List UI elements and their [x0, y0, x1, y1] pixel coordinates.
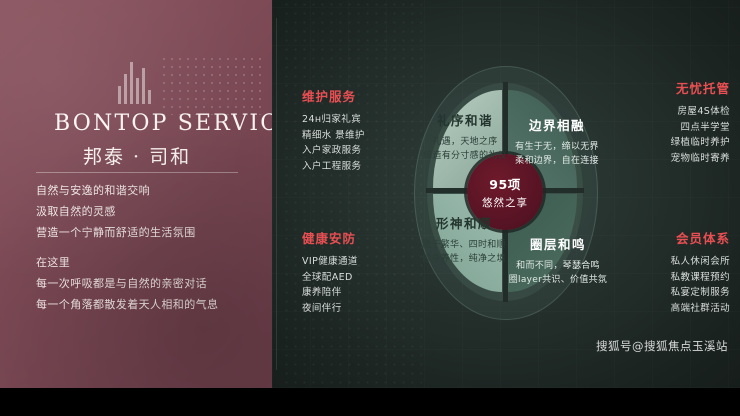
- brand-title-cn: 邦泰 · 司和: [83, 142, 191, 169]
- quadrant-label-top-right: 边界相融 有生于无，缔以无界 柔和边界，自在连接: [497, 115, 617, 168]
- group-item: 私教课程预约: [636, 270, 730, 286]
- quadrant-title: 边界相融: [497, 115, 617, 134]
- decorative-dots-pattern: [160, 55, 264, 115]
- group-item: 房屋4S体检: [636, 104, 730, 120]
- group-title: 无忧托管: [636, 78, 730, 97]
- quadrant-items: 和而不同，琴瑟合鸣 圈layer共识、价值共氛: [498, 259, 618, 287]
- slide-page: BONTOP SERVICE 邦泰 · 司和 自然与安逸的和谐交响 汲取自然的灵…: [0, 0, 740, 416]
- group-item: 四点半学堂: [636, 120, 730, 136]
- left-brand-panel: BONTOP SERVICE 邦泰 · 司和 自然与安逸的和谐交响 汲取自然的灵…: [0, 0, 272, 388]
- footer-bar: [0, 388, 740, 416]
- copy-line: 每一个角落都散发着天人相和的气息: [36, 294, 261, 315]
- copy-line: 在这里: [36, 252, 261, 273]
- group-member: 会员体系 私人休闲会所 私教课程预约 私宴定制服务 高端社群活动: [636, 228, 730, 316]
- panel-divider: [276, 18, 277, 370]
- group-items: 房屋4S体检 四点半学堂 绿植临时养护 宠物临时寄养: [636, 104, 730, 166]
- group-item: 夜间伴行: [302, 301, 422, 317]
- copy-line: 汲取自然的灵感: [36, 201, 261, 222]
- slide-body: BONTOP SERVICE 邦泰 · 司和 自然与安逸的和谐交响 汲取自然的灵…: [0, 0, 740, 388]
- decorative-bars-icon: [118, 62, 151, 104]
- copy-line: 自然与安逸的和谐交响: [36, 180, 261, 201]
- group-item: 私人休闲会所: [636, 254, 730, 270]
- quadrant-item: 和而不同，琴瑟合鸣: [498, 259, 618, 273]
- brand-divider: [36, 172, 238, 173]
- group-item: 精细水 景维护: [302, 128, 422, 144]
- quadrant-title: 形神和顺: [404, 213, 524, 232]
- quadrant-items: 有生于无，缔以无界 柔和边界，自在连接: [497, 140, 617, 168]
- group-item: 宠物临时寄养: [636, 151, 730, 167]
- quadrant-item: 有生于无，缔以无界: [497, 140, 617, 154]
- group-item: 康养陪伴: [302, 285, 422, 301]
- brand-title-en: BONTOP SERVICE: [54, 111, 298, 136]
- group-item: 全球配AED: [302, 270, 422, 286]
- group-item: 24н归家礼宾: [302, 112, 422, 128]
- group-item: 绿植临时养护: [636, 135, 730, 151]
- watermark: 搜狐号@搜狐焦点玉溪站: [596, 338, 728, 354]
- group-item: 入户家政服务: [302, 143, 422, 159]
- group-item: 高端社群活动: [636, 301, 730, 317]
- group-item: 私宴定制服务: [636, 285, 730, 301]
- copy-line: 营造一个宁静而舒适的生活氛围: [36, 222, 261, 243]
- group-title: 维护服务: [302, 86, 422, 105]
- quadrant-title: 圈层和鸣: [498, 234, 618, 253]
- group-title: 会员体系: [636, 228, 730, 247]
- quadrant-label-bottom-right: 圈层和鸣 和而不同，琴瑟合鸣 圈layer共识、价值共氛: [498, 234, 618, 287]
- center-number: 95项: [489, 174, 520, 193]
- copy-line: 每一次呼吸都是与自然的亲密对话: [36, 273, 261, 294]
- center-subtitle: 悠然之享: [482, 195, 528, 210]
- group-maintenance: 维护服务 24н归家礼宾 精细水 景维护 入户家政服务 入户工程服务: [302, 86, 422, 174]
- group-care: 无忧托管 房屋4S体检 四点半学堂 绿植临时养护 宠物临时寄养: [636, 78, 730, 166]
- group-items: 私人休闲会所 私教课程预约 私宴定制服务 高端社群活动: [636, 254, 730, 316]
- quadrant-item: 柔和边界，自在连接: [497, 154, 617, 168]
- brand-copy: 自然与安逸的和谐交响 汲取自然的灵感 营造一个宁静而舒适的生活氛围 在这里 每一…: [36, 180, 261, 315]
- group-item: 入户工程服务: [302, 159, 422, 175]
- group-items: 24н归家礼宾 精细水 景维护 入户家政服务 入户工程服务: [302, 112, 422, 174]
- dot-texture: [282, 0, 422, 388]
- quadrant-item: 圈layer共识、价值共氛: [498, 273, 618, 287]
